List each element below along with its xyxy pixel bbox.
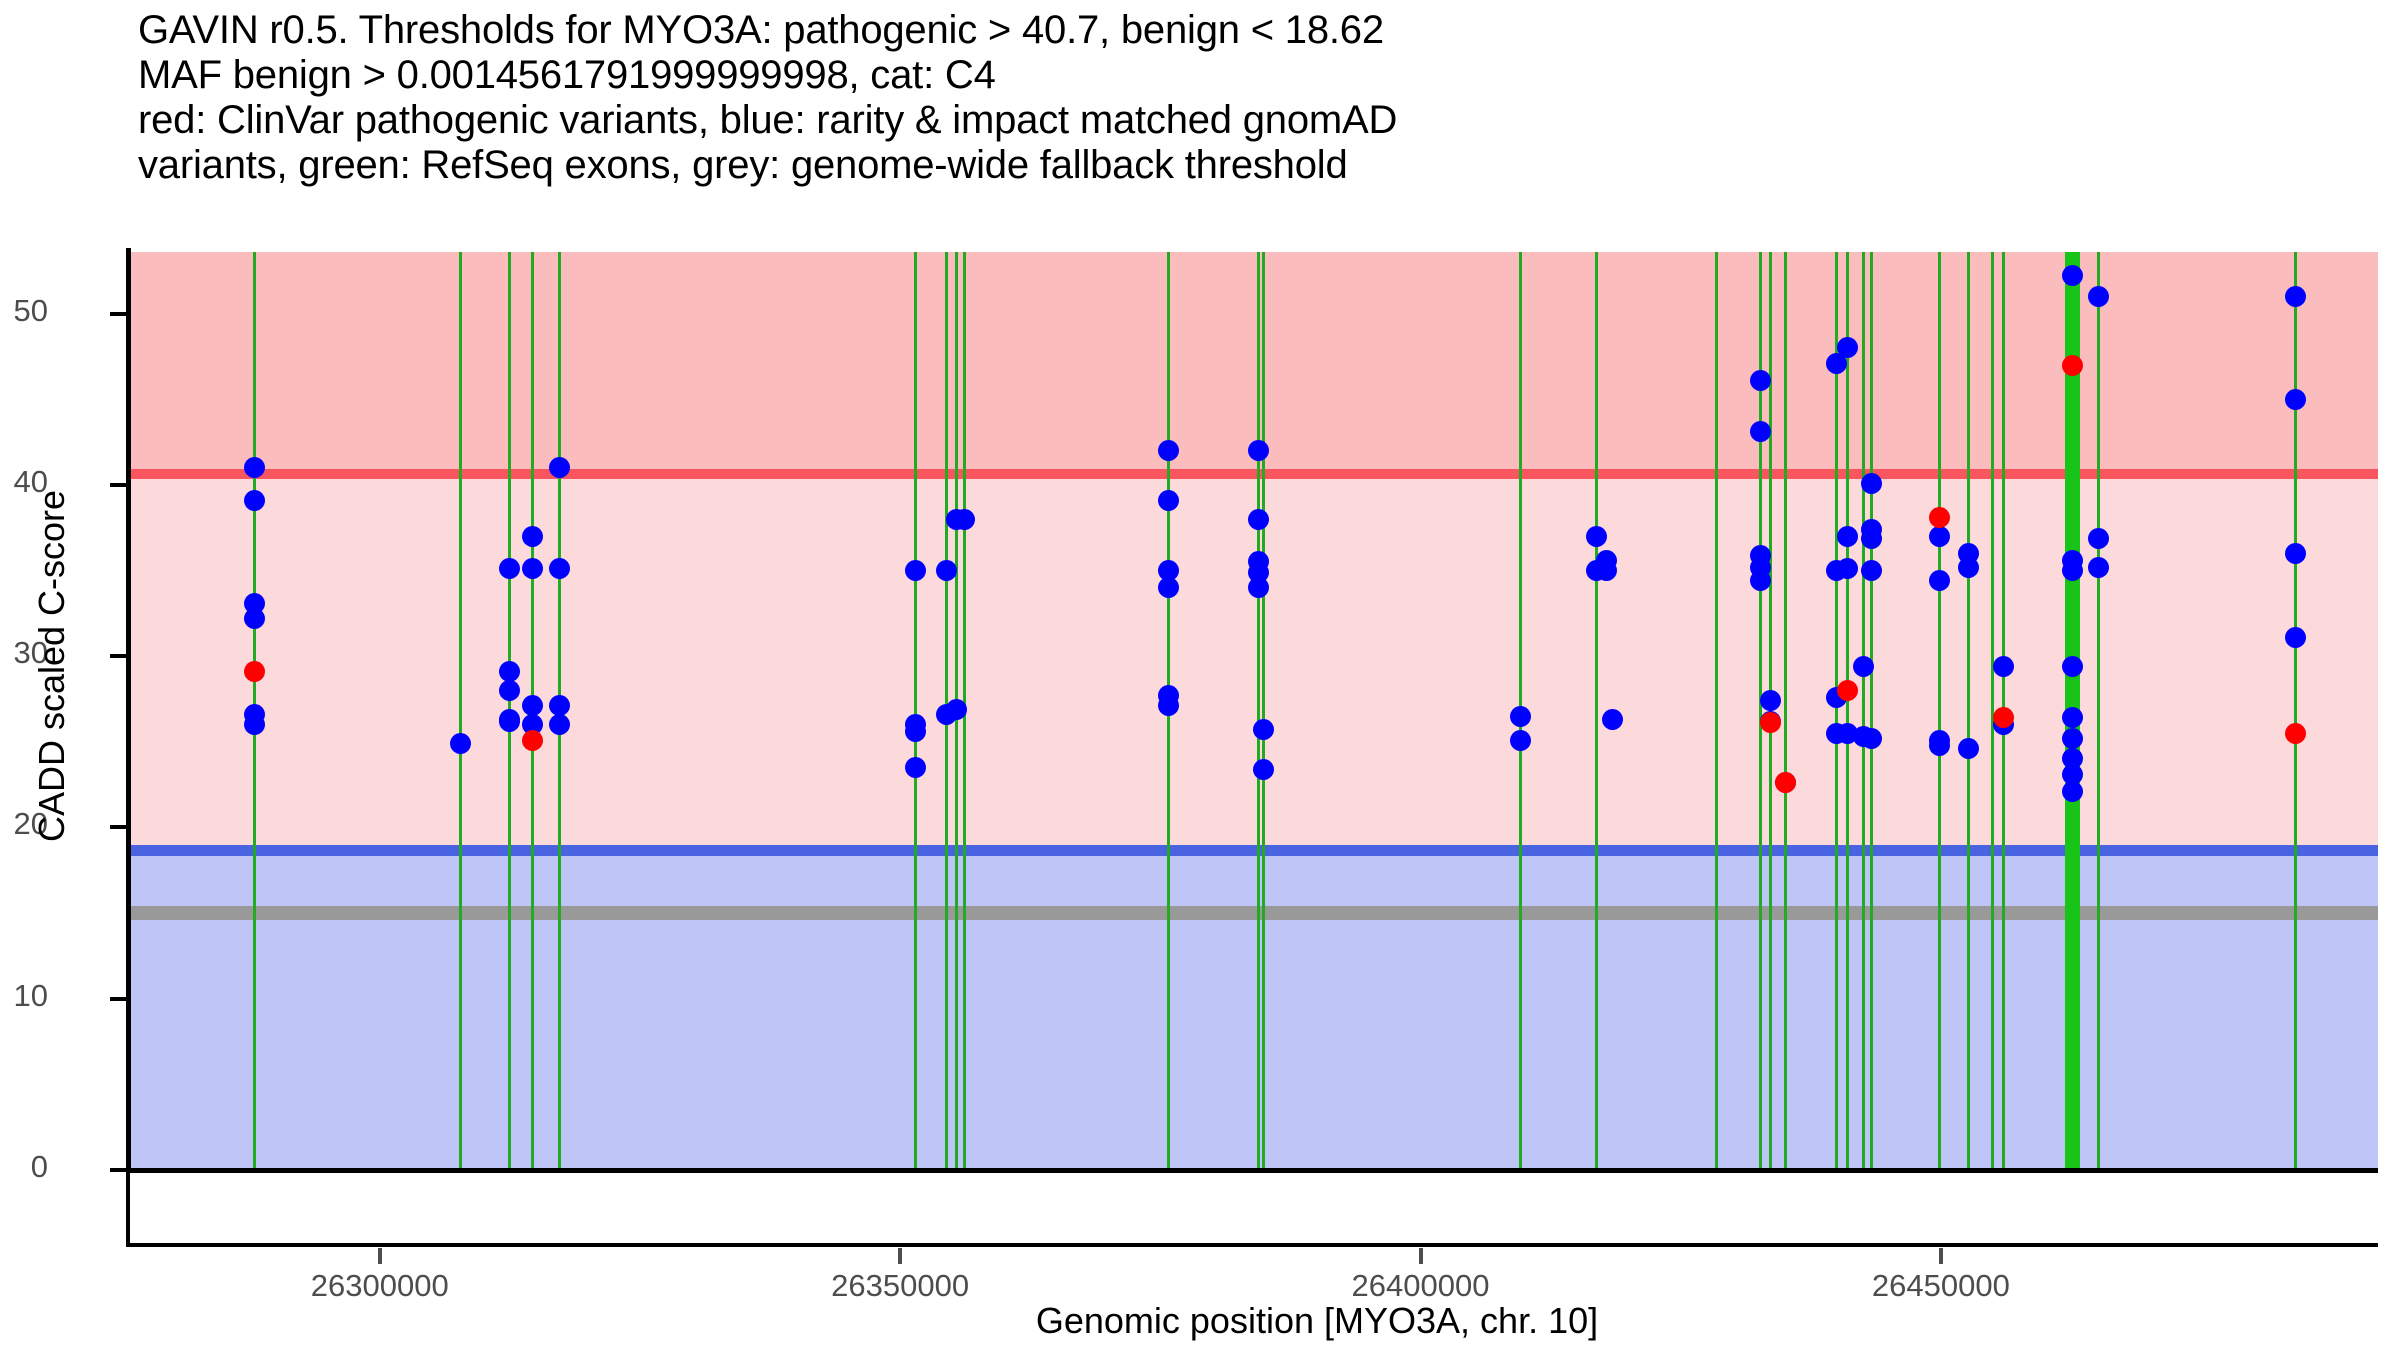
x-axis-label-text: Genomic position [MYO3A, chr. 10] xyxy=(1036,1300,1598,1341)
refseq-exon-line xyxy=(1595,252,1598,1170)
y-tick-mark xyxy=(110,825,127,829)
pathogenic-region xyxy=(130,252,2378,469)
gnomad-variant-point xyxy=(954,509,975,530)
refseq-exon-line xyxy=(1938,252,1941,1170)
clinvar-pathogenic-point xyxy=(1837,680,1858,701)
y-axis-label: CADD scaled C-score xyxy=(31,346,73,986)
gnomad-variant-point xyxy=(1861,473,1882,494)
y-tick-mark xyxy=(110,654,127,658)
gnomad-variant-point xyxy=(1861,528,1882,549)
y-tick-mark xyxy=(110,997,127,1001)
fallback-threshold-line xyxy=(130,906,2378,920)
refseq-exon-line xyxy=(1967,252,1970,1170)
x-tick-label: 26350000 xyxy=(831,1268,969,1304)
gnomad-variant-point xyxy=(1248,440,1269,461)
y-axis-line xyxy=(126,248,131,1172)
gnomad-variant-point xyxy=(1760,690,1781,711)
gnomad-variant-point xyxy=(1602,709,1623,730)
panel-left-line xyxy=(126,1168,130,1247)
refseq-exon-line xyxy=(1835,252,1838,1170)
gnomad-variant-point xyxy=(1248,577,1269,598)
gnomad-variant-point xyxy=(1861,728,1882,749)
benign-region-lower xyxy=(130,920,2378,1170)
pathogenic-threshold-line xyxy=(130,469,2378,479)
gnomad-variant-point xyxy=(2062,781,2083,802)
gnomad-variant-point xyxy=(499,711,520,732)
x-tick-mark xyxy=(1419,1248,1423,1264)
gnomad-variant-point xyxy=(2088,286,2109,307)
gnomad-variant-point xyxy=(1248,509,1269,530)
y-tick-mark xyxy=(110,483,127,487)
gnomad-variant-point xyxy=(2285,389,2306,410)
gnomad-variant-point xyxy=(1929,735,1950,756)
x-tick-label: 26400000 xyxy=(1352,1268,1490,1304)
gnomad-variant-point xyxy=(1586,526,1607,547)
x-tick-label: 26300000 xyxy=(311,1268,449,1304)
benign-threshold-line xyxy=(130,845,2378,855)
benign-region-upper xyxy=(130,856,2378,907)
clinvar-pathogenic-point xyxy=(522,730,543,751)
refseq-exon-line xyxy=(1846,252,1849,1170)
title-line-2: MAF benign > 0.0014561791999999998, cat:… xyxy=(138,53,2368,98)
gnomad-variant-point xyxy=(2062,265,2083,286)
refseq-exon-line xyxy=(1870,252,1873,1170)
gnomad-variant-point xyxy=(1158,490,1179,511)
refseq-exon-line xyxy=(1715,252,1718,1170)
refseq-exon-line xyxy=(459,252,462,1170)
gnomad-variant-point xyxy=(2062,728,2083,749)
title-line-1: GAVIN r0.5. Thresholds for MYO3A: pathog… xyxy=(138,8,2368,53)
gnomad-variant-point xyxy=(522,526,543,547)
gnomad-variant-point xyxy=(2062,707,2083,728)
vous-region xyxy=(130,479,2378,846)
x-tick-mark xyxy=(898,1248,902,1264)
plot-area xyxy=(130,252,2378,1170)
gnomad-variant-point xyxy=(1993,656,2014,677)
y-tick-label: 0 xyxy=(31,1149,48,1185)
gnomad-variant-point xyxy=(1510,730,1531,751)
gnomad-variant-point xyxy=(2088,528,2109,549)
gnomad-variant-point xyxy=(1837,337,1858,358)
gnomad-variant-point xyxy=(2062,560,2083,581)
clinvar-pathogenic-point xyxy=(2285,723,2306,744)
title-line-3: red: ClinVar pathogenic variants, blue: … xyxy=(138,98,2368,143)
gnomad-variant-point xyxy=(2285,627,2306,648)
refseq-exon-line xyxy=(1862,252,1865,1170)
title-line-4: variants, green: RefSeq exons, grey: gen… xyxy=(138,143,2368,188)
refseq-exon-line xyxy=(1262,252,1265,1170)
gnomad-variant-point xyxy=(1837,558,1858,579)
x-axis-label: Genomic position [MYO3A, chr. 10] xyxy=(0,1300,2400,1342)
y-tick-label: 50 xyxy=(14,293,48,329)
gnomad-variant-point xyxy=(946,699,967,720)
gnomad-variant-point xyxy=(1253,759,1274,780)
x-axis-line xyxy=(126,1243,2378,1247)
refseq-exon-line xyxy=(1784,252,1787,1170)
panel-bottom-line xyxy=(126,1168,2378,1173)
y-tick-mark xyxy=(110,312,127,316)
figure-title: GAVIN r0.5. Thresholds for MYO3A: pathog… xyxy=(138,8,2368,188)
clinvar-pathogenic-point xyxy=(2062,355,2083,376)
gnomad-variant-point xyxy=(1861,560,1882,581)
gnomad-variant-point xyxy=(2088,557,2109,578)
gnomad-variant-point xyxy=(1929,526,1950,547)
gnomad-variant-point xyxy=(1958,557,1979,578)
gnomad-variant-point xyxy=(2062,656,2083,677)
refseq-exon-line xyxy=(2097,252,2100,1170)
y-tick-mark xyxy=(110,1168,127,1172)
x-tick-label: 26450000 xyxy=(1872,1268,2010,1304)
gavin-cadd-scatter-figure: GAVIN r0.5. Thresholds for MYO3A: pathog… xyxy=(0,0,2400,1350)
gnomad-variant-point xyxy=(1510,706,1531,727)
refseq-exon-line xyxy=(1257,252,1260,1170)
x-tick-mark xyxy=(1939,1248,1943,1264)
gnomad-variant-point xyxy=(1837,526,1858,547)
x-tick-mark xyxy=(378,1248,382,1264)
refseq-exon-line xyxy=(914,252,917,1170)
